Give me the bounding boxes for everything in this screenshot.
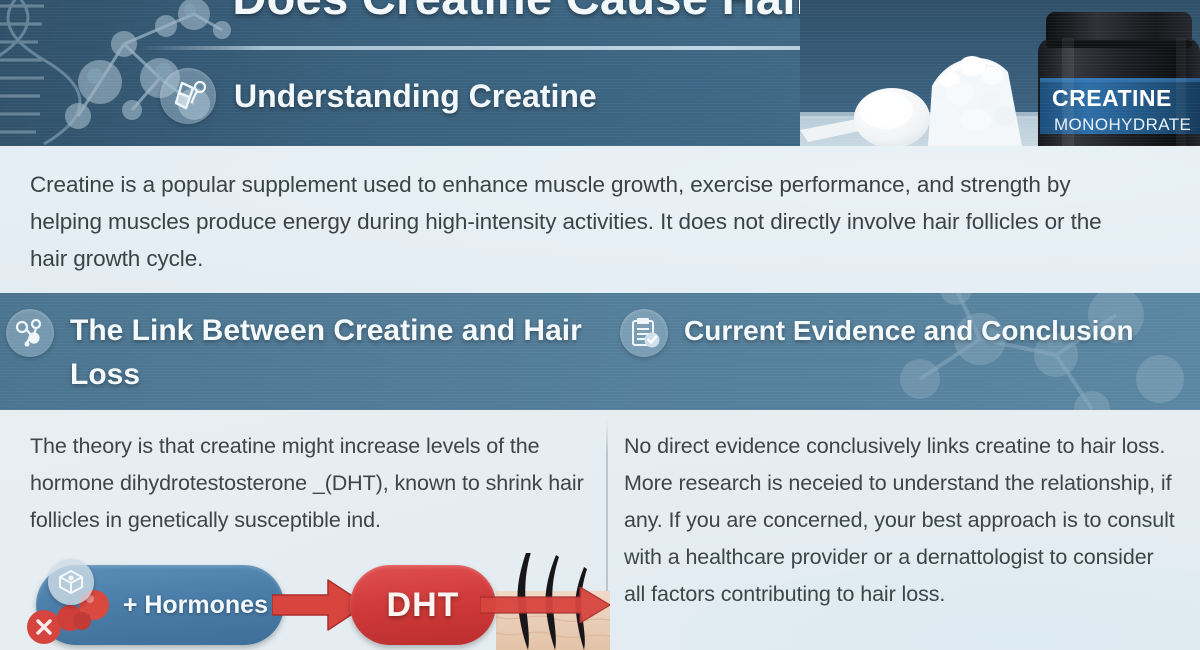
hero-header-band: Does Creatine Cause Hair Loss? Understan…	[0, 0, 1200, 146]
section-header-link-creatine-hair-loss: The Link Between Creatine and Hair Loss	[6, 309, 606, 397]
section-header-understanding-creatine: Understanding Creatine	[160, 68, 597, 124]
cube-icon	[48, 559, 94, 605]
clipboard-check-icon	[620, 309, 668, 357]
section-heading-text: Understanding Creatine	[234, 78, 597, 115]
flow-step-hormones-label: + Hormones	[123, 591, 268, 620]
creatine-to-dht-flow-diagram: + Hormones	[14, 553, 610, 650]
section-body-current-evidence-conclusion: No direct evidence conclusively links cr…	[624, 428, 1180, 613]
section-body-understanding-creatine: Creatine is a popular supplement used to…	[0, 146, 1200, 293]
section-heading-text: Current Evidence and Conclusion	[684, 309, 1134, 353]
flow-step-dht-label: DHT	[387, 586, 460, 625]
section-body-text: No direct evidence conclusively links cr…	[624, 428, 1180, 613]
flow-step-dht: DHT	[350, 565, 496, 645]
section-body-text: Creatine is a popular supplement used to…	[30, 166, 1110, 277]
right-arrow-icon-2	[480, 587, 610, 623]
section-body-text: The theory is that creatine might increa…	[30, 428, 590, 539]
infographic-root: Does Creatine Cause Hair Loss? Understan…	[0, 0, 1200, 650]
creatine-monohydrate-jar: CREATINE MONOHYDRATE	[800, 0, 1200, 146]
jar-brand-line2: MONOHYDRATE	[1054, 115, 1191, 134]
mid-header-band: The Link Between Creatine and Hair Loss …	[0, 293, 1200, 410]
section-body-link-creatine-hair-loss: The theory is that creatine might increa…	[30, 428, 590, 539]
section-header-current-evidence-conclusion: Current Evidence and Conclusion	[620, 309, 1180, 357]
supplement-container-icon	[160, 68, 216, 124]
section-heading-text: The Link Between Creatine and Hair Loss	[70, 309, 606, 397]
molecule-icon	[6, 309, 54, 357]
